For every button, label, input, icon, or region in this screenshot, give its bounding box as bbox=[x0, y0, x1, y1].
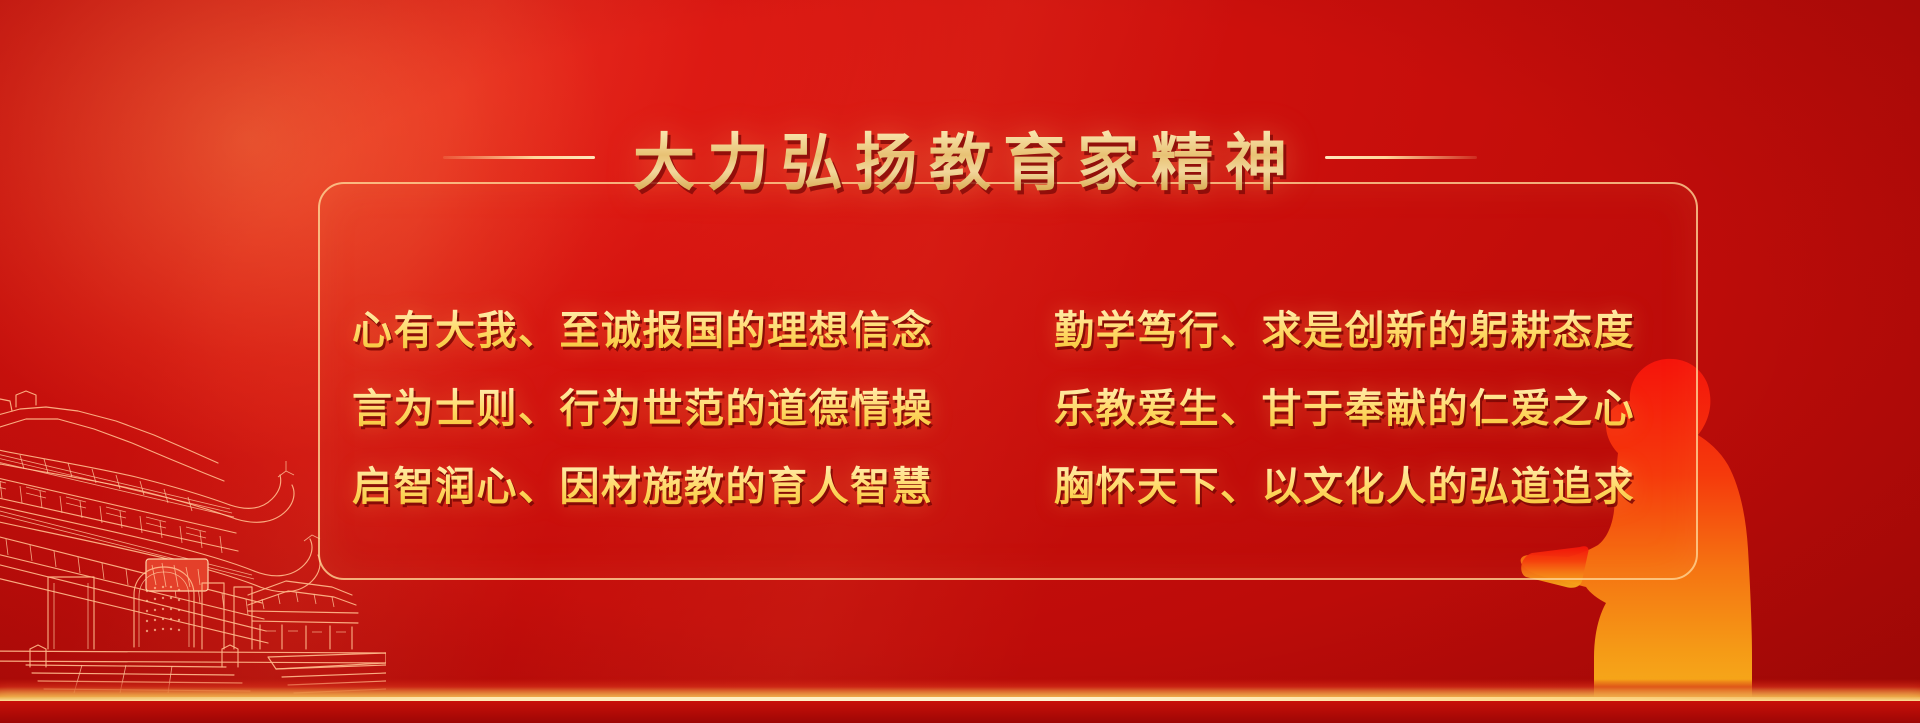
bottom-red-strip bbox=[0, 701, 1920, 723]
frame-title-notch bbox=[558, 181, 1458, 191]
phrase-item: 勤学笃行、求是创新的躬耕态度 bbox=[1040, 288, 1668, 366]
phrase-item: 言为士则、行为世范的道德情操 bbox=[352, 366, 980, 444]
phrase-item: 心有大我、至诚报国的理想信念 bbox=[352, 288, 980, 366]
phrase-grid: 心有大我、至诚报国的理想信念 勤学笃行、求是创新的躬耕态度 言为士则、行为世范的… bbox=[352, 288, 1668, 522]
banner-root: 大力弘扬教育家精神 心有大我、至诚报国的理想信念 勤学笃行、求是创新的躬耕态度 … bbox=[0, 0, 1920, 723]
phrase-item: 启智润心、因材施教的育人智慧 bbox=[352, 444, 980, 522]
phrase-item: 乐教爱生、甘于奉献的仁爱之心 bbox=[1040, 366, 1668, 444]
phrase-item: 胸怀天下、以文化人的弘道追求 bbox=[1040, 444, 1668, 522]
